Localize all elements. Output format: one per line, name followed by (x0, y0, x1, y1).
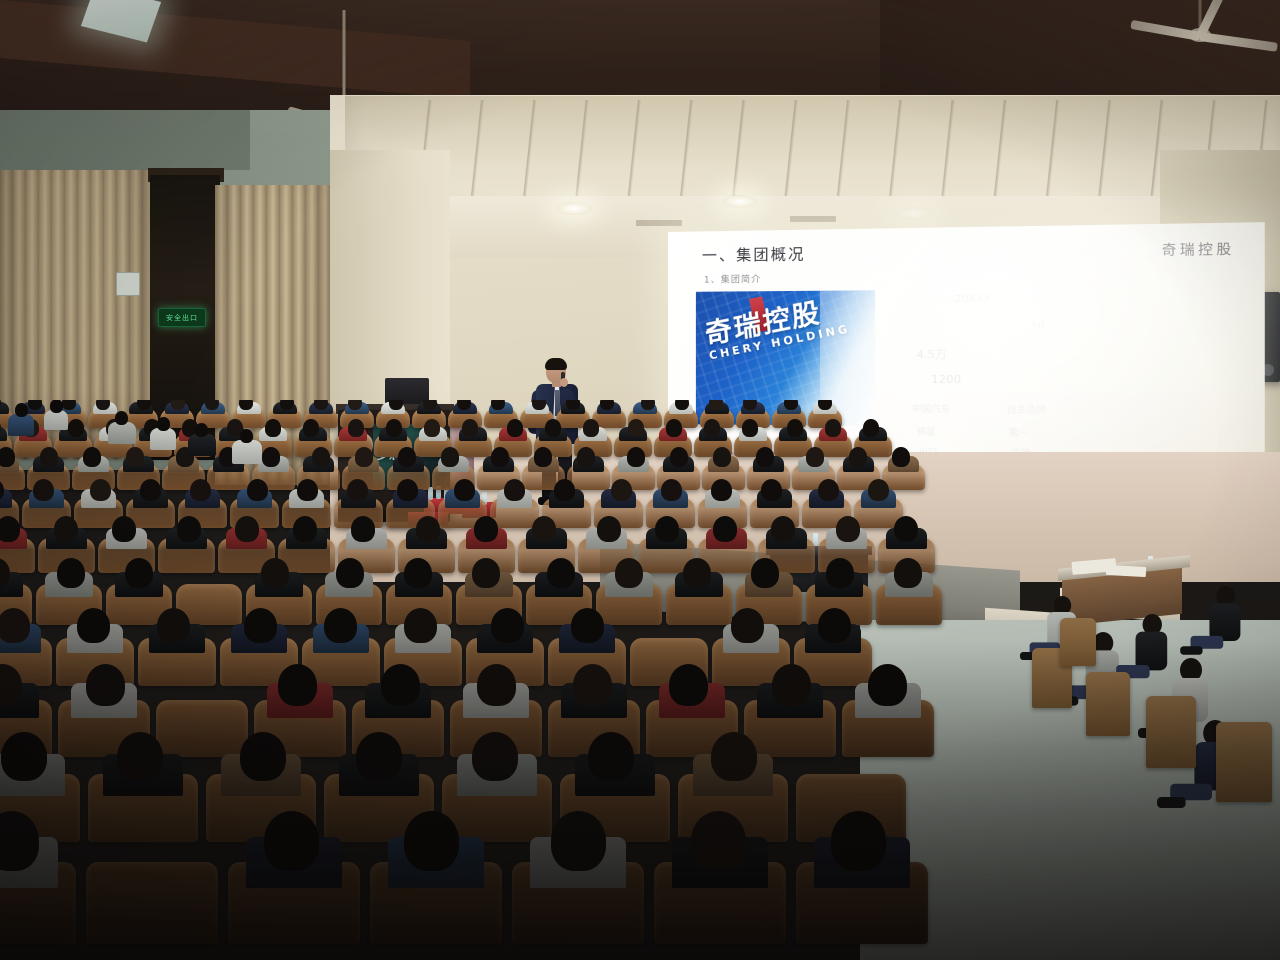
audience-member-head (731, 608, 764, 644)
audience-member-head (472, 732, 518, 782)
exit-sign-label: 安全出口 (166, 313, 198, 323)
audience-member-head (863, 419, 879, 436)
audience-member-head (554, 479, 575, 502)
audience-member-torso (188, 434, 216, 456)
audience-member-head (397, 479, 418, 502)
audience-member-head (462, 419, 478, 436)
audience-member-head (772, 664, 811, 706)
audience-member-head (348, 400, 362, 410)
audience-member-head (761, 479, 782, 502)
audience-member-head (303, 419, 319, 436)
audience-member-head (894, 558, 922, 588)
audience-member-head (1, 732, 47, 782)
audience-member-head (818, 479, 839, 502)
audience-member-head (57, 558, 85, 588)
audience-member-head (404, 608, 437, 644)
audience-member-head (398, 447, 416, 466)
audience-member-torso (232, 440, 262, 464)
ceiling-vent (636, 220, 682, 226)
audience-member-head (868, 664, 907, 706)
audience-member-head (424, 419, 440, 436)
audience-member-head (297, 479, 318, 502)
audience-member-head (675, 400, 689, 410)
audience-member-torso (0, 427, 7, 441)
ceiling-fan-right (1120, 0, 1280, 76)
audience-member-head (669, 664, 708, 706)
audience-member-head (628, 419, 644, 436)
audience-member-head (894, 516, 918, 542)
audience-member-head (491, 400, 505, 410)
audience-member-head (171, 400, 185, 410)
audience-member-head (356, 732, 402, 782)
audience-member-head (0, 516, 20, 542)
audience-member-head (83, 447, 101, 466)
audience-member-head (115, 411, 128, 425)
seat-end-panel (1146, 696, 1196, 768)
audience-member-head (244, 608, 277, 644)
audience-member-head (474, 516, 498, 542)
audience-member-head (28, 400, 42, 410)
audience-member-head (836, 516, 860, 542)
audience-member-head (262, 447, 280, 466)
audience (0, 400, 1280, 960)
slide-stat-value: 4.5万 (916, 346, 946, 363)
ceiling-vent (790, 216, 836, 222)
audience-member-head (742, 419, 758, 436)
audience-member-head (661, 479, 682, 502)
aisle-person-shoe (1157, 797, 1186, 808)
audience-member-head (247, 479, 268, 502)
seat-end-panel (1060, 618, 1096, 666)
audience-member-head (611, 479, 632, 502)
audience-member-head (868, 479, 889, 502)
downlight-icon (896, 207, 932, 220)
audience-member-head (278, 664, 317, 706)
audience-member-head (597, 516, 621, 542)
audience-member-head (831, 811, 886, 870)
audience-member-torso (44, 410, 68, 430)
slide-stat-value: 20XXX (955, 293, 991, 305)
audience-member-torso (150, 428, 176, 450)
audience-member-head (666, 419, 682, 436)
audience-member-head (33, 479, 54, 502)
audience-member-head (571, 608, 604, 644)
audience-member-head (457, 400, 471, 410)
audience-member-head (825, 419, 841, 436)
audience-member-head (743, 400, 757, 410)
auditorium-scene: 安全出口 一、集团概况 奇瑞控股 1、集团简介 奇瑞控股 CHERY HOLDI… (0, 0, 1280, 960)
audience-member-head (507, 419, 523, 436)
audience-member-head (404, 811, 459, 870)
audience-member-head (205, 400, 219, 410)
audience-member-head (50, 400, 63, 413)
audience-member-head (125, 558, 153, 588)
audience-member-head (532, 400, 546, 410)
audience-member-head (588, 732, 634, 782)
slide-title: 一、集团概况 (702, 243, 806, 266)
audience-member-head (691, 811, 746, 870)
audience-member-head (240, 429, 253, 443)
audience-member-head (265, 419, 281, 436)
audience-member-head (534, 447, 552, 466)
audience-member-head (404, 558, 432, 588)
audience-member-head (195, 423, 208, 437)
audience-member-head (140, 479, 161, 502)
audience-member-head (545, 419, 561, 436)
audience-member-head (670, 447, 688, 466)
fan-blade (1130, 20, 1200, 41)
seat-end-panel (1216, 722, 1272, 802)
fan-blade (1199, 32, 1277, 52)
audience-member-head (504, 479, 525, 502)
presenter-hair (545, 358, 567, 370)
auditorium-seat[interactable] (86, 862, 218, 944)
audience-member-head (126, 447, 144, 466)
audience-member-head (491, 447, 509, 466)
audience-member-head (441, 447, 459, 466)
audience-member-head (386, 419, 402, 436)
audience-member-head (112, 516, 136, 542)
audience-member-head (806, 447, 824, 466)
audience-member-head (704, 419, 720, 436)
audience-member-head (355, 447, 373, 466)
audience-member-head (261, 558, 289, 588)
audience-member-head (86, 664, 125, 706)
audience-member-head (351, 516, 375, 542)
audience-member-head (577, 447, 595, 466)
downlight-icon (722, 195, 758, 208)
audience-member-head (583, 419, 599, 436)
audience-member-head (312, 447, 330, 466)
audience-member-head (655, 516, 679, 542)
audience-member-head (157, 608, 190, 644)
audience-member-head (491, 608, 524, 644)
audience-member-head (756, 447, 774, 466)
audience-member-head (336, 558, 364, 588)
downlight-icon (556, 202, 592, 215)
audience-member-head (137, 400, 151, 410)
audience-member-head (784, 400, 798, 410)
audience-member-head (600, 400, 614, 410)
audience-member-head (892, 447, 910, 466)
audience-member-head (787, 419, 803, 436)
slide-stat-value: 50 (1030, 320, 1044, 332)
audience-member-head (348, 419, 364, 436)
audience-member-head (0, 447, 15, 466)
audience-member-head (190, 479, 211, 502)
auditorium-seat[interactable] (156, 700, 248, 757)
audience-member-head (0, 608, 30, 644)
audience-member-head (477, 664, 516, 706)
audience-member-head (532, 516, 556, 542)
audience-member-head (711, 479, 732, 502)
audience-member-head (381, 664, 420, 706)
audience-member-head (641, 400, 655, 410)
audience-member-head (771, 516, 795, 542)
exit-sign: 安全出口 (158, 308, 206, 327)
audience-member-head (264, 811, 319, 870)
audience-member-head (293, 516, 317, 542)
slide-subtitle: 1、集团简介 (704, 272, 761, 286)
audience-member-head (573, 664, 612, 706)
wall-panel-icon (116, 272, 140, 296)
audience-member-head (849, 447, 867, 466)
audience-member-head (77, 608, 110, 644)
slide-stat-value: 1200 (931, 373, 961, 387)
audience-member-head (709, 400, 723, 410)
audience-member-head (324, 608, 357, 644)
audience-member-head (551, 811, 606, 870)
audience-member-torso (0, 402, 9, 414)
audience-member-head (416, 516, 440, 542)
audience-member-head (96, 400, 110, 410)
audience-member-head (826, 558, 854, 588)
audience-member-head (818, 400, 832, 410)
audience-member-torso (108, 422, 136, 444)
presenter-hand (560, 378, 568, 387)
audience-member-head (239, 400, 253, 410)
audience-member-head (347, 479, 368, 502)
audience-member-head (117, 732, 163, 782)
audience-member-head (389, 400, 403, 410)
audience-member-head (713, 447, 731, 466)
audience-member-head (818, 608, 851, 644)
audience-member-head (240, 732, 286, 782)
audience-member-head (40, 447, 58, 466)
audience-member-head (62, 400, 76, 410)
audience-member-head (68, 419, 84, 436)
audience-member-head (713, 516, 737, 542)
audience-member-head (90, 479, 111, 502)
audience-member-head (472, 558, 500, 588)
audience-member-head (280, 400, 294, 410)
audience-member-head (235, 516, 259, 542)
audience-member-head (711, 732, 757, 782)
audience-member-head (683, 558, 711, 588)
audience-member-head (627, 447, 645, 466)
audience-member-head (751, 558, 779, 588)
audience-member-head (423, 400, 437, 410)
audience-member-head (454, 479, 475, 502)
audience-member-torso (8, 414, 34, 436)
seat-end-panel (1086, 672, 1130, 736)
audience-member-head (615, 558, 643, 588)
slide-brand-logo: 奇瑞控股 (1162, 238, 1235, 259)
audience-member-head (177, 516, 201, 542)
audience-member-head (157, 417, 170, 431)
left-wall-upper (0, 110, 250, 170)
audience-member-head (15, 403, 28, 417)
audience-member-head (54, 516, 78, 542)
audience-member-head (547, 558, 575, 588)
aisle-person-shoe (1180, 646, 1202, 655)
audience-member-head (566, 400, 580, 410)
audience-member-head (314, 400, 328, 410)
